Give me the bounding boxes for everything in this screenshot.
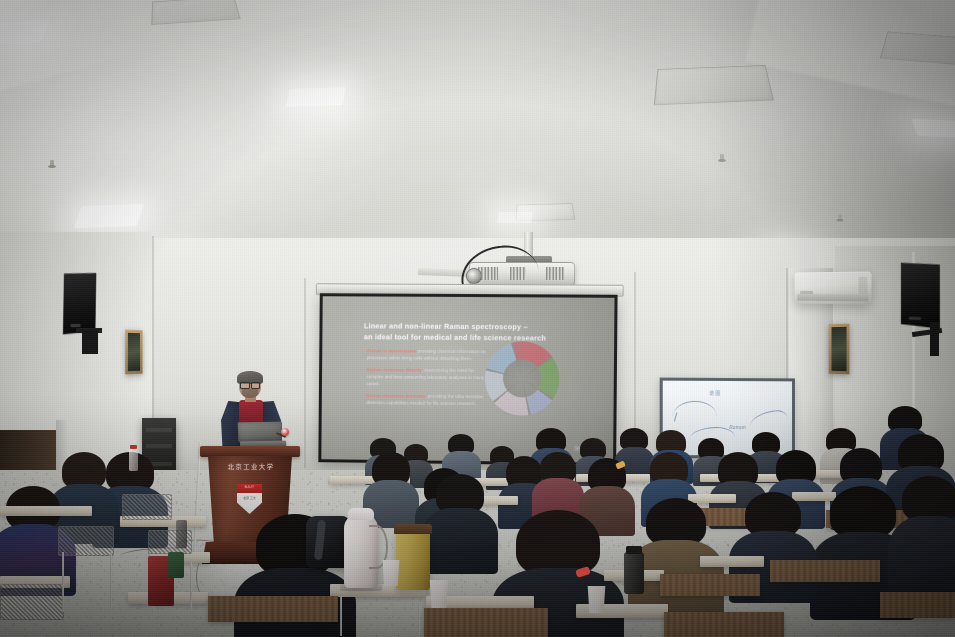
- chair-leg: [418, 604, 420, 636]
- lecture-hall-photo: Linear and non-linear Raman spectroscopy…: [0, 0, 955, 637]
- ceiling-light-panel: [74, 204, 144, 228]
- bullet-highlight: Raman measures precisely: [366, 393, 425, 399]
- bench-seat-back: [208, 596, 338, 622]
- water-bottle: [129, 449, 138, 471]
- sprinkler-head-icon: [718, 154, 726, 163]
- whiteboard-sketch-axis: [674, 413, 687, 425]
- rack-slot: [146, 428, 172, 432]
- whiteboard-annotation: Raman: [729, 425, 746, 431]
- audience-member: [540, 452, 576, 516]
- eyeglasses-icon: [240, 382, 260, 387]
- chair-leg: [110, 552, 112, 610]
- person-hair: [830, 486, 896, 538]
- framed-picture-left: [125, 330, 142, 375]
- paper-cup: [428, 580, 450, 608]
- green-bag: [168, 552, 184, 578]
- presenter-beard: [242, 389, 258, 398]
- wall-speaker-right: [901, 261, 940, 328]
- picture-canvas: [128, 333, 140, 371]
- air-conditioner-unit: [795, 272, 872, 305]
- slide-bullet-item: Raman is non-invasive providing chemical…: [362, 348, 490, 363]
- mesh-chair-back: [0, 584, 64, 620]
- person-hair: [646, 498, 706, 546]
- student-desk: [700, 556, 764, 567]
- slide-bullet-list: Raman is non-invasive providing chemical…: [361, 348, 489, 413]
- ceiling-light-panel: [286, 87, 346, 107]
- thermos-cap: [348, 508, 374, 520]
- audience-member: [62, 452, 106, 534]
- ceiling-light-panel: [497, 212, 533, 223]
- rack-slot: [146, 444, 172, 448]
- laptop-screen: [238, 422, 282, 443]
- mesh-chair-back: [122, 494, 172, 520]
- bullet-highlight: Raman measures directly: [367, 367, 422, 372]
- bench-seat-back: [664, 612, 784, 637]
- paper-cup: [381, 560, 401, 586]
- bench-seat-back: [880, 592, 955, 618]
- podium-desktop: [200, 446, 300, 457]
- audience-member: [902, 476, 955, 596]
- sprinkler-head-icon: [837, 215, 844, 223]
- crest-band-label: BJUT: [237, 485, 262, 489]
- framed-picture-right: [829, 324, 850, 375]
- wall-seam: [304, 278, 306, 468]
- ceiling-air-duct: [654, 65, 774, 105]
- speaker-bracket: [930, 322, 939, 356]
- whiteboard-sketch-curve: [748, 409, 789, 428]
- slide-bullet-item: Raman measures directly, overcoming the …: [361, 367, 489, 388]
- bench-seat-back: [660, 574, 760, 596]
- slide-donut-segment-dividers: [485, 341, 560, 416]
- sprinkler-head-icon: [48, 160, 56, 169]
- wall-speaker-left: [63, 271, 96, 334]
- audience-member: [436, 474, 484, 566]
- chair-leg: [190, 562, 192, 610]
- whiteboard-heading: 谱 图: [709, 390, 720, 397]
- student-desk: [0, 506, 92, 516]
- slide-title-line-2: an ideal tool for medical and life scien…: [364, 331, 576, 344]
- bottle-cap: [130, 445, 137, 449]
- slide-title: Linear and non-linear Raman spectroscopy…: [364, 320, 576, 344]
- mesh-chair-back: [58, 526, 114, 556]
- person-torso: [888, 516, 955, 602]
- slide-bullet-item: Raman measures precisely, providing the …: [361, 393, 489, 408]
- projector-vent: [546, 267, 564, 280]
- picture-canvas: [832, 327, 847, 371]
- ac-air-louver: [797, 294, 868, 301]
- paper-cup: [586, 586, 607, 613]
- chair-leg: [62, 552, 64, 612]
- bullet-highlight: Raman is non-invasive: [367, 348, 416, 353]
- chair-leg: [340, 596, 342, 636]
- tumbler-lid: [394, 524, 432, 534]
- bottle-cap: [626, 546, 642, 554]
- audience-member: [6, 486, 60, 582]
- microphone-head: [281, 428, 289, 436]
- dark-water-bottle: [624, 552, 644, 594]
- gold-thermos-tumbler: [396, 530, 430, 590]
- ceiling-light-panel: [912, 119, 955, 139]
- audience-member: [372, 452, 410, 520]
- speaker-bracket: [82, 330, 98, 354]
- crest-sub-label: 北京 工大: [237, 496, 262, 500]
- water-bottle: [176, 520, 187, 548]
- bench-seat-back: [424, 608, 548, 637]
- bench-seat-back: [770, 560, 880, 582]
- person-torso: [422, 508, 498, 574]
- podium-institution-text: 北京工业大学: [218, 462, 284, 471]
